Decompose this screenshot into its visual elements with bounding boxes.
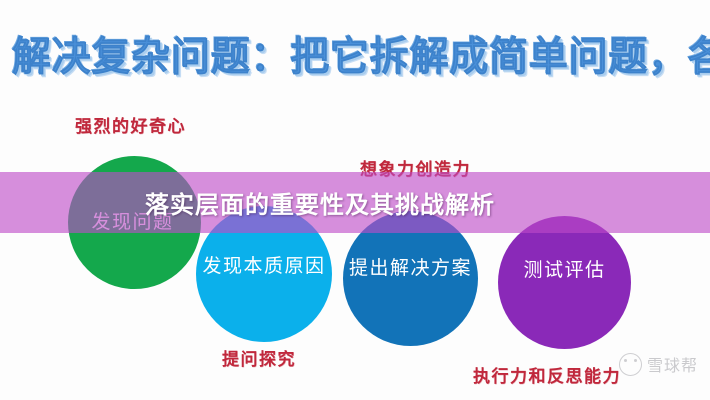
watermark-label: 雪球帮 [647, 352, 698, 376]
overlay-banner-title: 落实层面的重要性及其挑战解析 [145, 185, 495, 220]
annotation-inquiry: 提问探究 [222, 345, 296, 370]
bubble-propose-solution-label: 提出解决方案 [349, 253, 472, 280]
bubble-test-evaluate-label: 测试评估 [523, 255, 605, 282]
overlay-banner: 落实层面的重要性及其挑战解析 [0, 172, 710, 233]
watermark: 雪球帮 [619, 352, 698, 376]
annotation-execution: 执行力和反思能力 [473, 362, 621, 387]
bubble-root-cause-label: 发现本质原因 [202, 251, 325, 278]
annotation-curiosity: 强烈的好奇心 [75, 112, 186, 137]
screenshot-canvas: 解决复杂问题：把它拆解成简单问题，各个击破 发现问题 发现本质原因 提出解决方案… [0, 0, 710, 400]
bubble-test-evaluate: 测试评估 [498, 216, 631, 349]
poster-headline: 解决复杂问题：把它拆解成简单问题，各个击破 [12, 34, 681, 80]
circle-face-logo-icon [619, 353, 642, 376]
